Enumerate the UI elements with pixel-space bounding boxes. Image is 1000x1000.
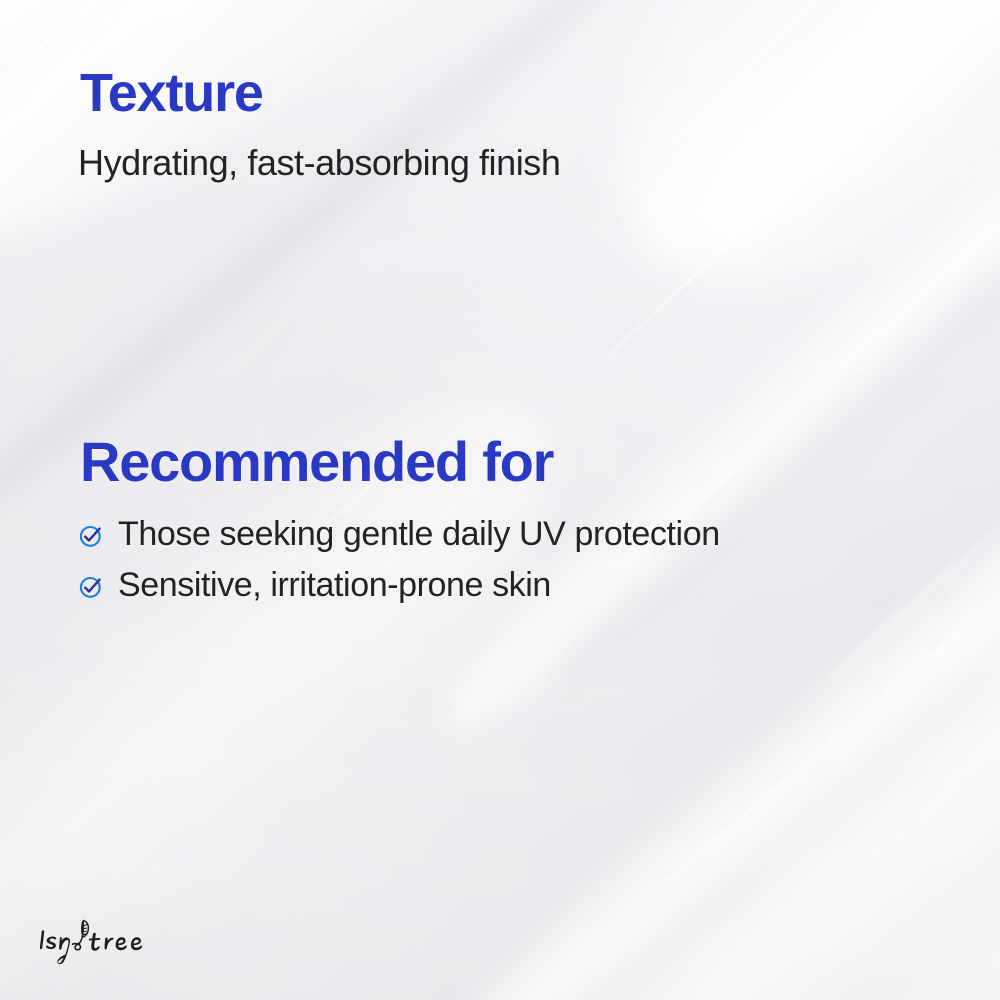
texture-heading: Texture — [80, 66, 560, 120]
texture-section: Texture Hydrating, fast-absorbing finish — [80, 66, 560, 184]
recommended-section: Recommended for Those seeking gentle dai… — [80, 434, 720, 619]
content-layer: Texture Hydrating, fast-absorbing finish… — [0, 0, 1000, 1000]
check-circle-icon — [78, 523, 104, 549]
list-item-label: Those seeking gentle daily UV protection — [118, 516, 720, 553]
list-item: Sensitive, irritation-prone skin — [78, 567, 720, 604]
recommended-heading: Recommended for — [80, 434, 720, 490]
check-circle-icon — [78, 574, 104, 600]
recommended-bullet-list: Those seeking gentle daily UV protection… — [78, 516, 720, 605]
leaf-icon — [73, 921, 89, 950]
brand-logo — [38, 916, 176, 966]
texture-subtitle: Hydrating, fast-absorbing finish — [78, 142, 560, 184]
list-item: Those seeking gentle daily UV protection — [78, 516, 720, 553]
product-detail-image: Texture Hydrating, fast-absorbing finish… — [0, 0, 1000, 1000]
list-item-label: Sensitive, irritation-prone skin — [118, 567, 551, 604]
